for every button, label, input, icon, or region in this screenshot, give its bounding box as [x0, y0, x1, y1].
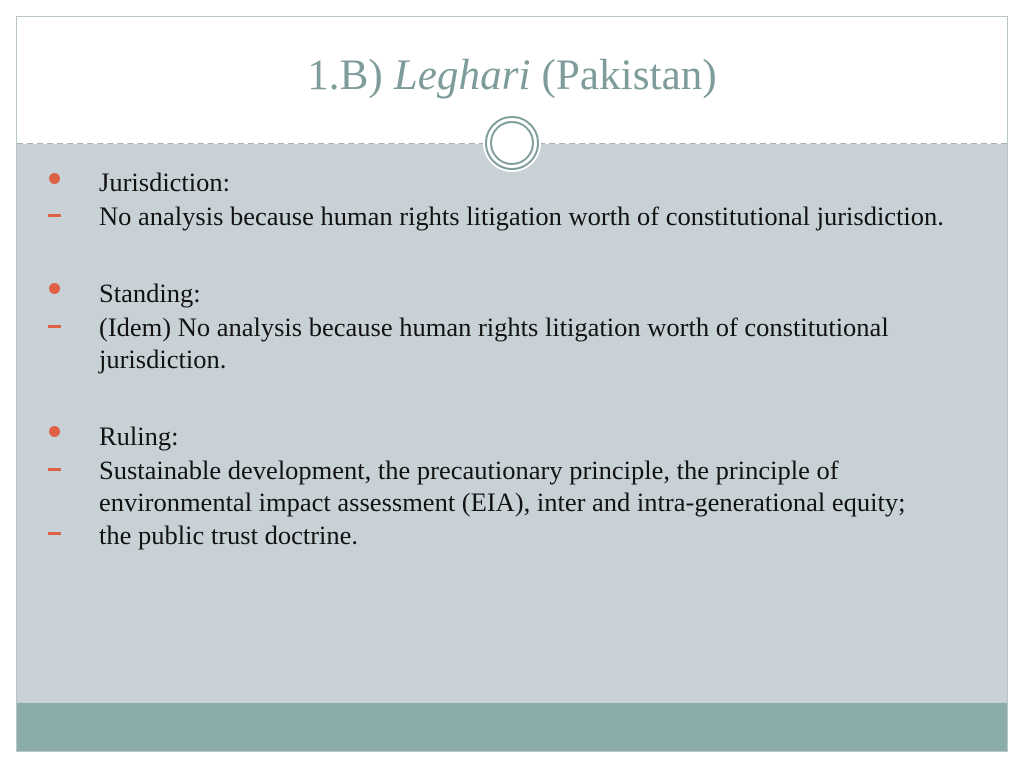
content-group: Jurisdiction: No analysis because human … — [43, 166, 981, 233]
bullet-dash-icon — [43, 519, 87, 551]
list-item: No analysis because human rights litigat… — [43, 200, 981, 232]
bullet-dot-icon — [43, 420, 87, 452]
bullet-dash-icon — [43, 311, 87, 343]
ring-inner — [490, 121, 534, 165]
bullet-dot-icon — [43, 277, 87, 309]
list-item: the public trust doctrine. — [43, 519, 981, 551]
list-item-label: the public trust doctrine. — [99, 519, 981, 551]
content-group: Ruling: Sustainable development, the pre… — [43, 420, 981, 551]
slide-root: 1.B) Leghari (Pakistan) Jurisdiction: — [0, 0, 1024, 768]
title-prefix: 1.B) — [307, 52, 394, 99]
list-item-label: No analysis because human rights litigat… — [99, 200, 981, 232]
list-item: Ruling: — [43, 420, 981, 452]
page-title: 1.B) Leghari (Pakistan) — [17, 53, 1007, 98]
bullet-dash-icon — [43, 454, 87, 486]
bullet-dot-icon — [43, 166, 87, 198]
body-area: Jurisdiction: No analysis because human … — [17, 144, 1007, 751]
list-item-label: Ruling: — [99, 420, 981, 452]
list-item-label: Sustainable development, the precautiona… — [99, 454, 981, 519]
footer-band — [17, 703, 1007, 751]
content-group: Standing: (Idem) No analysis because hum… — [43, 277, 981, 376]
double-ring-circle-icon — [483, 114, 541, 172]
title-case-name: Leghari — [394, 52, 531, 99]
title-suffix: (Pakistan) — [531, 52, 717, 99]
bullet-dash-icon — [43, 200, 87, 232]
list-item: Sustainable development, the precautiona… — [43, 454, 981, 519]
list-item: Standing: — [43, 277, 981, 309]
list-item-label: (Idem) No analysis because human rights … — [99, 311, 981, 376]
slide-canvas: 1.B) Leghari (Pakistan) Jurisdiction: — [16, 16, 1008, 752]
content-list: Jurisdiction: No analysis because human … — [43, 166, 981, 551]
list-item: (Idem) No analysis because human rights … — [43, 311, 981, 376]
list-item-label: Jurisdiction: — [99, 166, 981, 198]
list-item-label: Standing: — [99, 277, 981, 309]
